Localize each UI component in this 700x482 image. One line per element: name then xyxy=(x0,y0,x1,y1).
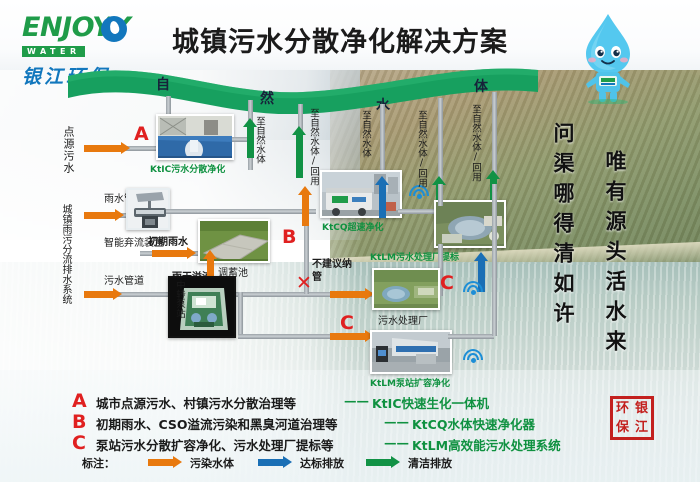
legend-text-a: 城市点源污水、村镇污水分散治理等 xyxy=(96,393,296,412)
legend-product-b: KtCQ水体快速净化器 xyxy=(412,414,535,433)
photo-smart-divert xyxy=(126,188,170,230)
arrow-rain-polluted xyxy=(84,209,124,222)
x-mark-icon: ✕ xyxy=(296,272,312,294)
outlet-label-3: 至自然水体/回用 xyxy=(414,110,428,188)
caption-sewage-plant: 污水处理厂 xyxy=(378,312,428,327)
marker-c-mid: C xyxy=(440,272,454,294)
outlet-label-4: 至自然水体/回用 xyxy=(468,104,482,182)
support-post-5 xyxy=(438,98,443,184)
key-arrow-polluted xyxy=(148,456,182,469)
page-title: 城镇污水分散净化解决方案 xyxy=(150,20,530,59)
caption-ktlm-plant: KtLM污水处理厂提标 xyxy=(370,250,459,263)
poster-root: ENJOYY WATER 银江环保 城镇污水分散净化解决方案 自 然 水 体 点… xyxy=(0,0,700,482)
key-label-polluted: 污染水体 xyxy=(190,455,234,471)
arrow-b-up xyxy=(298,186,312,226)
key-note-label: 标注： xyxy=(82,455,115,471)
logo-text-water: WATER xyxy=(22,46,85,57)
calligraphy-right: 唯有源头活水来 xyxy=(600,150,630,360)
legend-dash-c: —— xyxy=(384,435,409,450)
water-drop-icon xyxy=(101,16,127,42)
photo-ktlm-pump xyxy=(370,330,452,374)
arrow-early-rain xyxy=(152,247,196,260)
seal-char-4: 保 xyxy=(613,418,632,437)
label-transfer-pump: 中转泵站 xyxy=(172,280,186,318)
arrow-outlet-0 xyxy=(292,126,306,178)
arrow-sewage-in xyxy=(84,288,122,301)
key-label-compliant: 达标排放 xyxy=(300,455,344,471)
caption-ktcq: KtCQ超速净化 xyxy=(322,220,384,233)
label-sewage-pipe: 污水管道 xyxy=(104,272,144,287)
legend-text-c: 泵站污水分散扩容净化、污水处理厂提标等 xyxy=(96,435,334,454)
legend-product-c: KtLM高效能污水处理系统 xyxy=(412,435,561,454)
pipe-pump-riser-link xyxy=(448,334,494,339)
water-drop-mascot xyxy=(576,12,640,104)
photo-sewage-plant xyxy=(372,268,440,310)
legend-letter-c: C xyxy=(72,432,86,454)
marker-c-low: C xyxy=(340,312,354,334)
outlet-label-0: 至自然水体/回用 xyxy=(306,108,320,186)
arrow-a-polluted xyxy=(84,142,130,155)
arrow-to-plant xyxy=(330,288,374,301)
legend-dash-b: —— xyxy=(384,414,409,429)
pipe-pump-down xyxy=(238,292,243,336)
arrow-outlet-2 xyxy=(375,176,389,218)
input-label-drainage-system: 城镇雨污分流排水系统 xyxy=(58,204,73,304)
banner-char-4: 体 xyxy=(474,76,488,96)
key-arrow-compliant xyxy=(258,456,292,469)
banner-char-2: 然 xyxy=(260,88,274,108)
caption-ktic: KtIC污水分散净化 xyxy=(150,162,225,175)
legend-dash-a: —— xyxy=(344,393,369,408)
company-seal: 银 江 环 保 xyxy=(610,396,654,440)
logo-text-en: ENJOY xyxy=(22,12,111,43)
marker-b: B xyxy=(282,226,296,248)
legend-product-a: KtIC快速生化一体机 xyxy=(372,393,489,412)
pipe-outlet-4-riser xyxy=(492,184,497,336)
pipe-pump-out xyxy=(238,334,344,339)
wifi-icon-plant xyxy=(462,278,484,294)
label-not-recommended: 不建议纳管 xyxy=(312,258,352,284)
wifi-icon-pump xyxy=(462,346,484,362)
legend-text-b: 初期雨水、CSO溢流污染和黑臭河道治理等 xyxy=(96,414,338,433)
label-early-rain: 初期雨水 xyxy=(148,233,188,248)
marker-a: A xyxy=(134,123,149,145)
key-label-clean: 清洁排放 xyxy=(408,455,452,471)
key-arrow-clean xyxy=(366,456,400,469)
input-label-point-source: 点源污水 xyxy=(60,126,76,174)
seal-char-2: 江 xyxy=(632,418,651,437)
outlet-label-1: 至自然水体 xyxy=(252,116,266,164)
banner-char-1: 自 xyxy=(156,74,170,94)
seal-char-1: 银 xyxy=(632,399,651,418)
seal-char-3: 环 xyxy=(613,399,632,418)
outlet-label-2: 至自然水体 xyxy=(358,110,372,158)
photo-ktcq xyxy=(320,170,402,218)
photo-ktic xyxy=(156,114,234,160)
calligraphy-left: 问渠哪得清如许 xyxy=(548,122,578,332)
legend-letter-b: B xyxy=(72,411,86,433)
legend-letter-a: A xyxy=(72,390,87,412)
pipe-outlet-3-riser xyxy=(438,184,443,206)
caption-ktlm-pump: KtLM泵站扩容净化 xyxy=(370,376,450,389)
